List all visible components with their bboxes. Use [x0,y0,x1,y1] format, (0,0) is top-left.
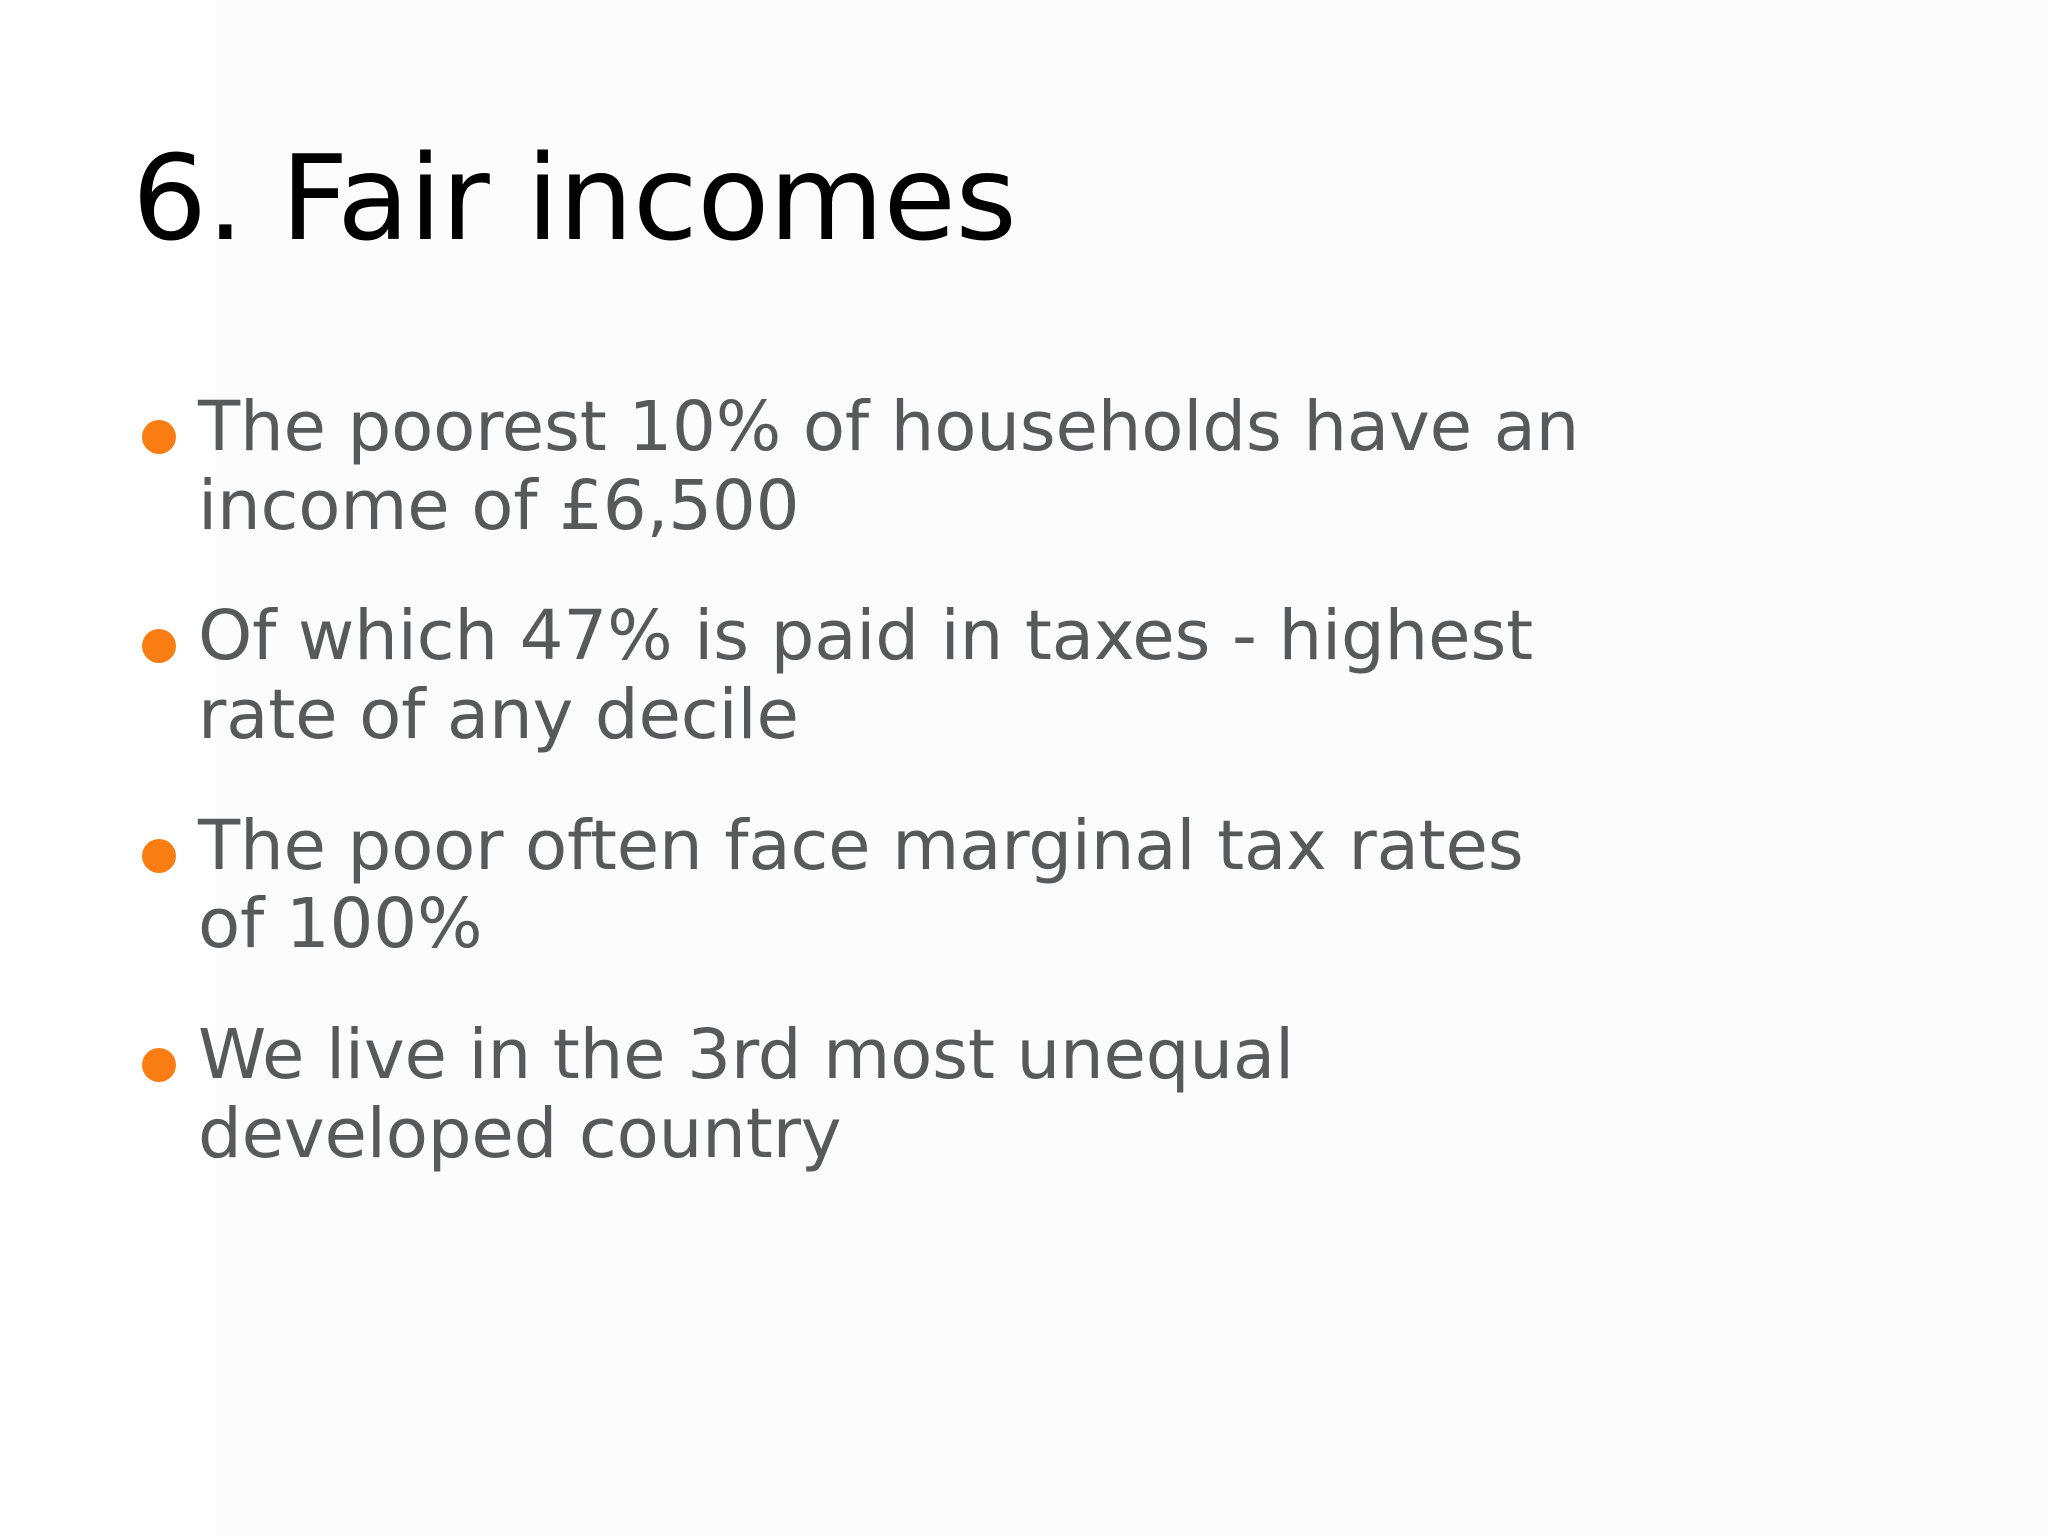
round-bullet-icon [142,420,176,454]
bullet-item-1-line-1: The poorest 10% of households have an [198,388,2018,467]
bullet-item-3-line-2: of 100% [198,885,2018,964]
round-bullet-icon [142,629,176,663]
bullet-item-2-line-1: Of which 47% is paid in taxes - highest [198,597,2018,676]
bullet-item-1-line-2: income of £6,500 [198,467,2018,546]
bullet-item-3-line-1: The poor often face marginal tax rates [198,807,2018,886]
bullet-item-4-line-2: developed country [198,1095,2018,1174]
bullet-item-4-text: We live in the 3rd most unequal develope… [198,1016,2018,1173]
presentation-slide: 6. Fair incomes The poorest 10% of house… [0,0,2048,1536]
bullet-item-4-line-1: We live in the 3rd most unequal [198,1016,2018,1095]
bullet-item-4: We live in the 3rd most unequal develope… [128,1016,2018,1173]
round-bullet-icon [142,839,176,873]
bullet-item-1-text: The poorest 10% of households have an in… [198,388,2018,545]
slide-title: 6. Fair incomes [132,131,1932,267]
bullet-item-2-line-2: rate of any decile [198,676,2018,755]
bullet-list: The poorest 10% of households have an in… [128,388,2018,1173]
bullet-item-2-text: Of which 47% is paid in taxes - highest … [198,597,2018,754]
bullet-item-2: Of which 47% is paid in taxes - highest … [128,597,2018,754]
round-bullet-icon [142,1048,176,1082]
bullet-item-3: The poor often face marginal tax rates o… [128,807,2018,964]
bullet-item-1: The poorest 10% of households have an in… [128,388,2018,545]
bullet-item-3-text: The poor often face marginal tax rates o… [198,807,2018,964]
